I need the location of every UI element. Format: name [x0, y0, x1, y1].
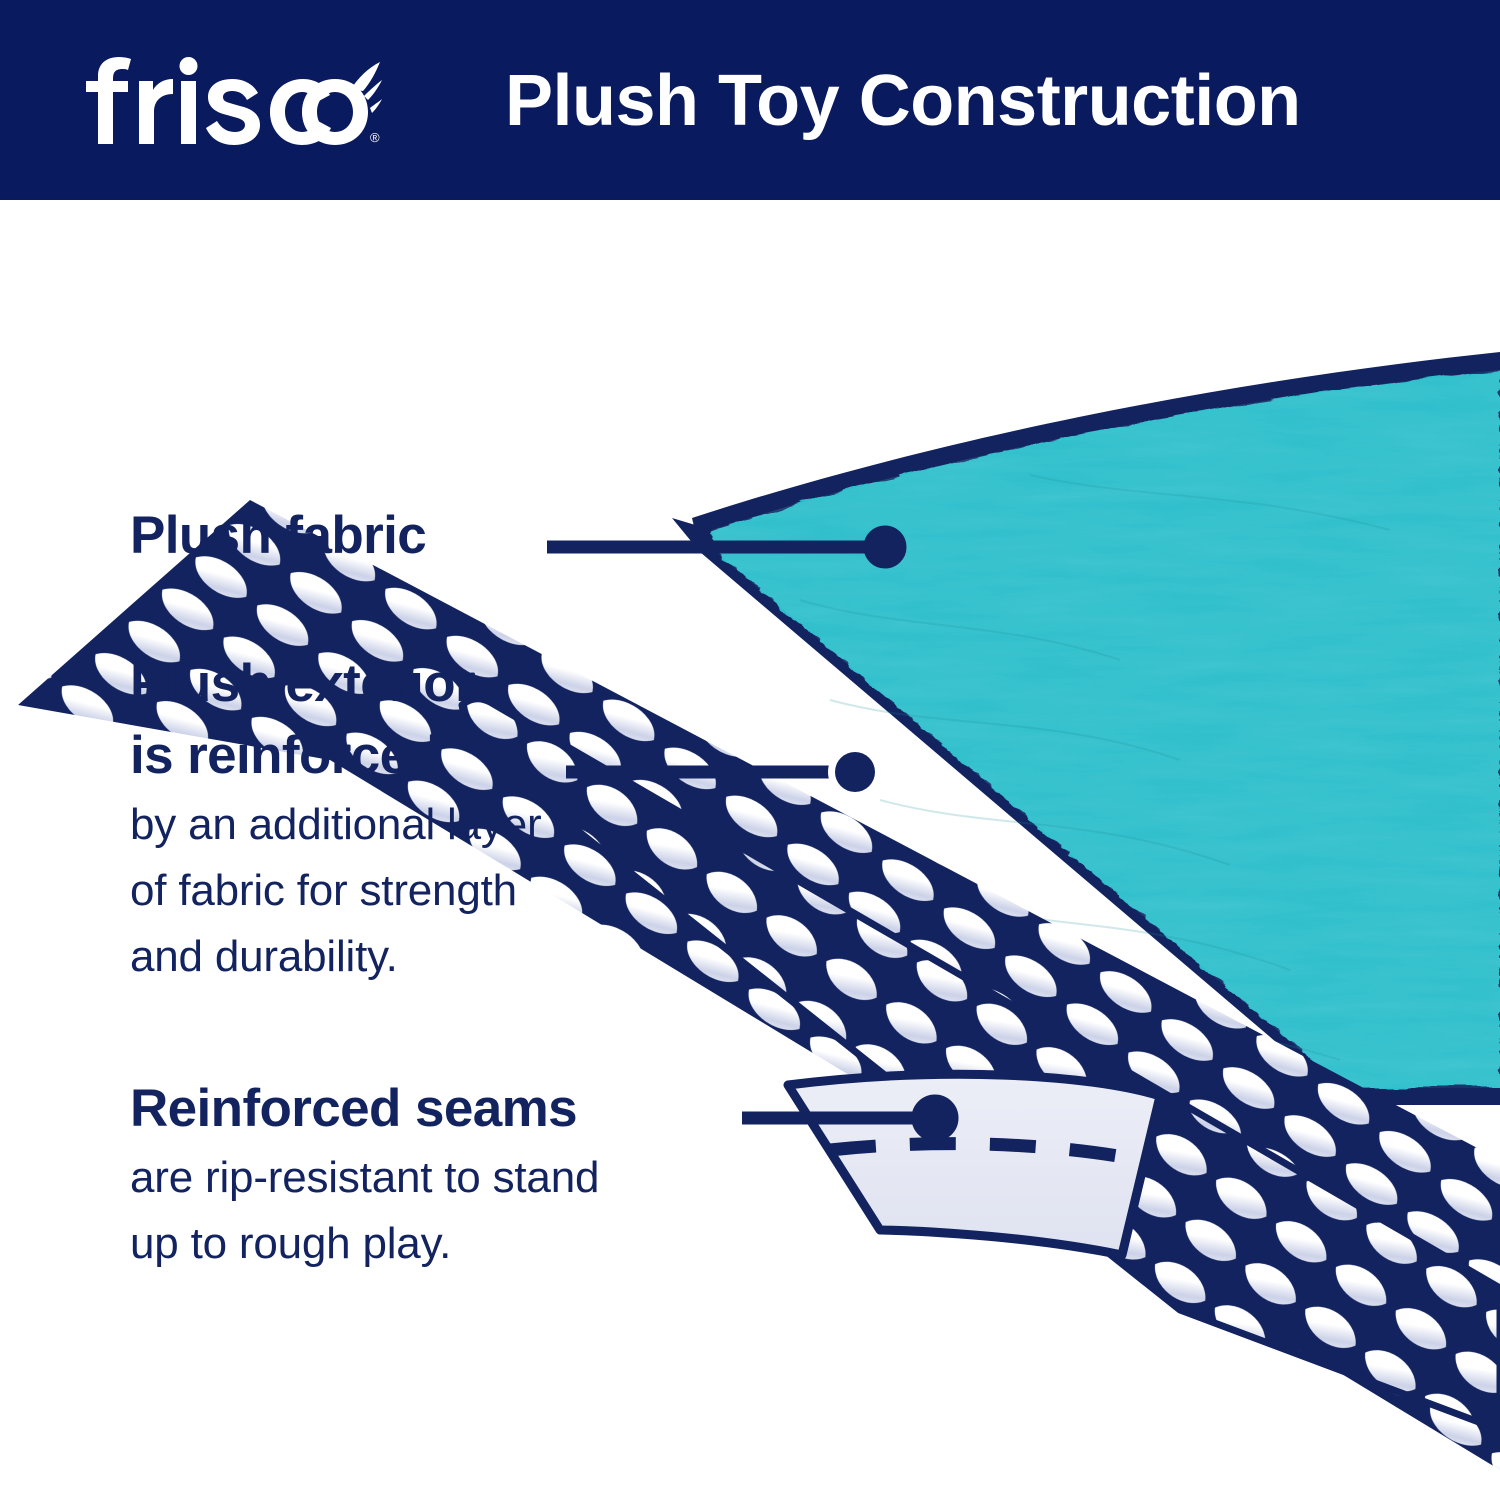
frisco-logo: ® frisco — [82, 56, 382, 148]
callout-headline-reinforced-seams: Reinforced seams — [130, 1073, 599, 1145]
callout-body-plush-exterior: by an additional layer of fabric for str… — [130, 792, 541, 990]
callout-plush-fabric: Plush fabric — [130, 500, 426, 572]
leader-dot-reinforced-seams — [912, 1095, 958, 1141]
seam-flap — [788, 1074, 1160, 1260]
leader-dot-plush-fabric — [864, 526, 906, 568]
callout-reinforced-seams: Reinforced seams are rip-resistant to st… — [130, 1073, 599, 1277]
callout-plush-exterior: Plush exterior is reinforced by an addit… — [130, 648, 541, 990]
page-title: Plush Toy Construction — [505, 53, 1405, 149]
callout-body-reinforced-seams: are rip-resistant to stand up to rough p… — [130, 1145, 599, 1277]
callout-body-line-1: are rip-resistant to stand — [130, 1145, 599, 1211]
callout-body-line-3: and durability. — [130, 924, 541, 990]
header-bar: ® frisco Plush Toy Construction — [0, 0, 1500, 200]
callout-body-line-2: up to rough play. — [130, 1211, 599, 1277]
callout-body-line-1: by an additional layer — [130, 792, 541, 858]
registered-trademark-symbol: ® — [370, 130, 380, 145]
callout-headline-line-2: is reinforced — [130, 720, 541, 792]
callout-body-line-2: of fabric for strength — [130, 858, 541, 924]
callout-headline-line-1: Plush exterior — [130, 648, 541, 720]
callout-headline-plush-fabric: Plush fabric — [130, 500, 426, 572]
infographic-page: ® frisco Plush Toy Construction — [0, 0, 1500, 1500]
leader-dot-plush-exterior — [835, 752, 875, 792]
